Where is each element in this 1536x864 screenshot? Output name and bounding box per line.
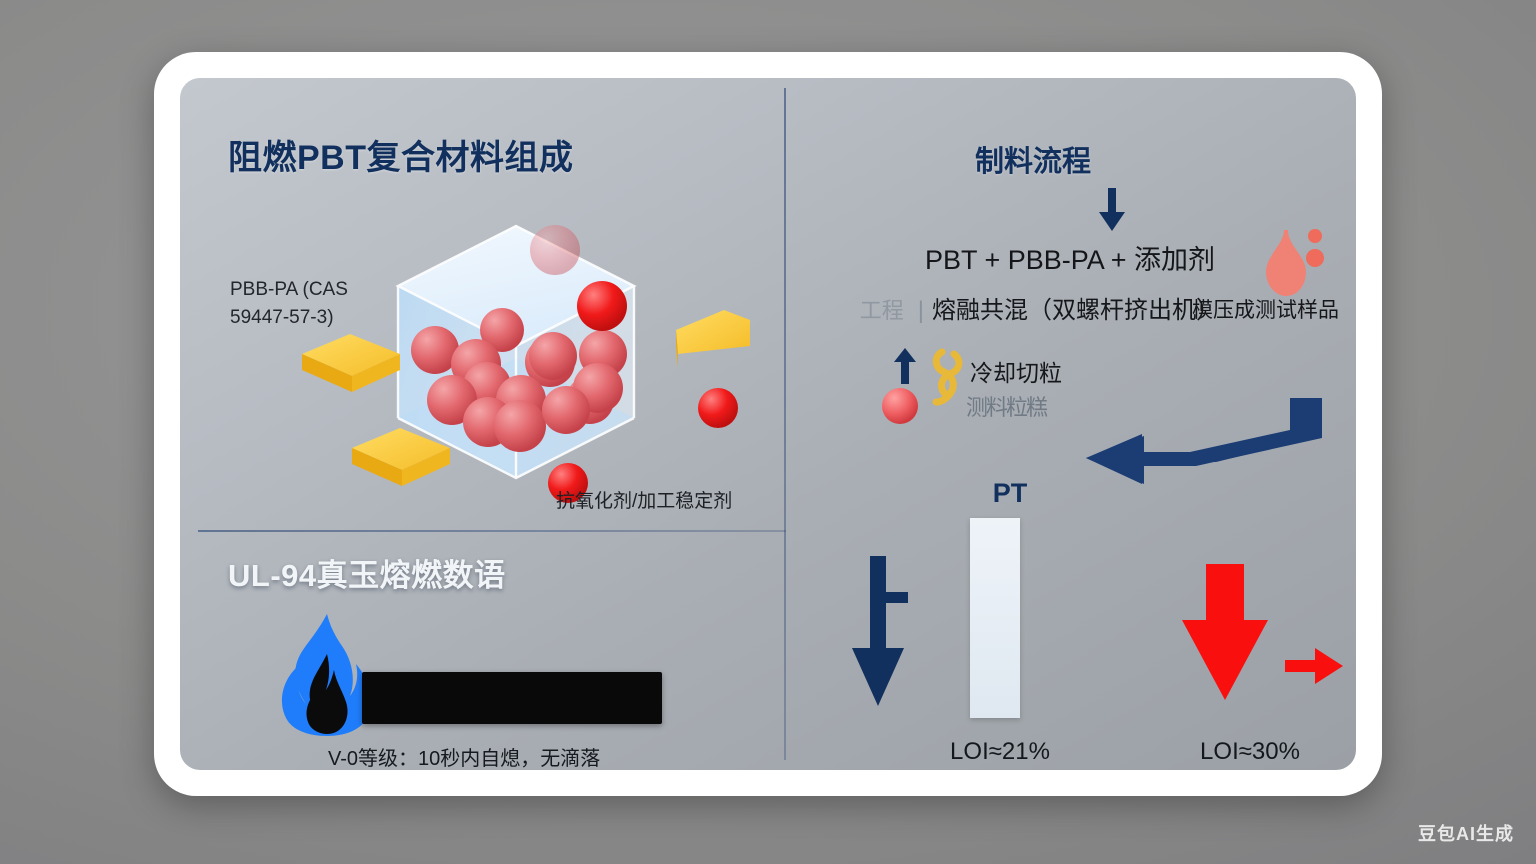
- ai-watermark: 豆包AI生成: [1418, 820, 1514, 846]
- flow-down-arrow-icon: [1092, 188, 1132, 232]
- red-down-arrow-icon: [1180, 564, 1270, 704]
- loi-after-label: LOI≈30%: [1160, 738, 1340, 766]
- bent-left-arrow-svg: [1084, 396, 1324, 496]
- red-right-arrow-icon: [1285, 646, 1345, 686]
- antioxidant-label: 抗氧化剂/加工稳定剂: [556, 486, 732, 513]
- flow-step-2-separator: |: [918, 297, 924, 324]
- chart-bar-pt: [970, 518, 1020, 718]
- v0-rating-text: V-0等级：10秒内自熄，无滴落: [328, 742, 600, 770]
- infographic-inner-panel: 阻燃PBT复合材料组成 PBB-PA (CAS 59447-57-3): [180, 78, 1356, 770]
- red-down-arrow-svg: [1180, 564, 1270, 704]
- outside-sphere-1: [698, 388, 738, 428]
- screw-helix-svg: [932, 346, 966, 408]
- bent-left-arrow-icon: [1084, 396, 1324, 496]
- left-panel-title: 阻燃PBT复合材料组成: [228, 130, 574, 179]
- flow-down-arrow-svg: [1092, 188, 1132, 232]
- flow-step-2: 工程|熔融共混（双螺杆挤出机）: [790, 290, 1220, 325]
- ul94-title-text: UL-94真玉熔燃数语: [228, 558, 506, 593]
- droplet-icon: [1258, 220, 1328, 300]
- small-up-arrow-svg: [892, 348, 918, 384]
- mold-sample-label: 模压成测试样品: [1192, 294, 1339, 324]
- screenshot-stage: 阻燃PBT复合材料组成 PBB-PA (CAS 59447-57-3): [0, 0, 1536, 864]
- pellet-sphere-svg: [880, 386, 920, 426]
- cube-illustration: [280, 178, 750, 538]
- screw-helix-icon: [932, 346, 966, 408]
- yellow-plate-1: [302, 334, 400, 392]
- cooling-sub-label: 测料粒糕: [966, 390, 1046, 422]
- infographic-card: 阻燃PBT复合材料组成 PBB-PA (CAS 59447-57-3): [154, 52, 1382, 796]
- loi-before-label: LOI≈21%: [920, 738, 1080, 766]
- navy-down-arrow-svg: [848, 556, 918, 716]
- red-right-arrow-svg: [1285, 646, 1345, 686]
- chart-pt-label: PT: [950, 478, 1070, 509]
- ul94-title: UL-94真玉熔燃数语: [228, 550, 506, 595]
- small-up-arrow-icon: [892, 348, 918, 384]
- left-panel-title-text: 阻燃PBT复合材料组成: [228, 139, 574, 177]
- pellet-sphere-icon: [880, 386, 920, 426]
- yellow-plate-3: [676, 310, 750, 368]
- right-panel-title-text: 制料流程: [975, 146, 1091, 178]
- flow-step-1: PBT + PBB-PA + 添加剂: [920, 238, 1220, 277]
- navy-down-arrow-icon: [848, 556, 918, 716]
- vertical-divider: [784, 88, 786, 760]
- droplet-svg: [1258, 220, 1328, 300]
- burn-length-bar: [362, 672, 662, 724]
- cube-svg: [280, 178, 750, 538]
- flow-step-2-prefix: 工程: [860, 298, 904, 323]
- flow-step-2-text: 熔融共混（双螺杆挤出机）: [932, 297, 1220, 324]
- right-panel-title: 制料流程: [975, 138, 1091, 180]
- cooling-pelletizing-label: 冷却切粒: [970, 354, 1062, 388]
